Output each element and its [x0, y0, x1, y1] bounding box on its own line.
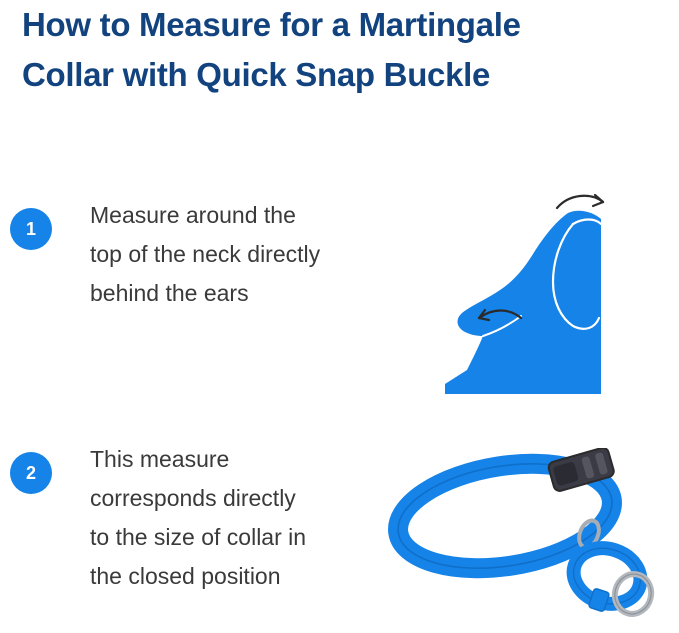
page-title-line-1: How to Measure for a Martingale	[22, 0, 672, 50]
step-1-number-badge: 1	[10, 208, 52, 250]
step-1-text-line-2: top of the neck directly	[90, 235, 410, 274]
page-title: How to Measure for a Martingale Collar w…	[22, 0, 672, 100]
step-1-text-line-1: Measure around the	[90, 196, 410, 235]
step-2-number: 2	[26, 464, 36, 482]
page-title-line-2: Collar with Quick Snap Buckle	[22, 50, 672, 100]
step-2-number-badge: 2	[10, 452, 52, 494]
infographic-page: How to Measure for a Martingale Collar w…	[0, 0, 679, 623]
step-1-number: 1	[26, 220, 36, 238]
collar-illustration	[355, 448, 675, 633]
dog-head-illustration	[405, 186, 665, 421]
step-1-text-line-3: behind the ears	[90, 274, 410, 313]
step-1-text: Measure around the top of the neck direc…	[90, 196, 410, 313]
